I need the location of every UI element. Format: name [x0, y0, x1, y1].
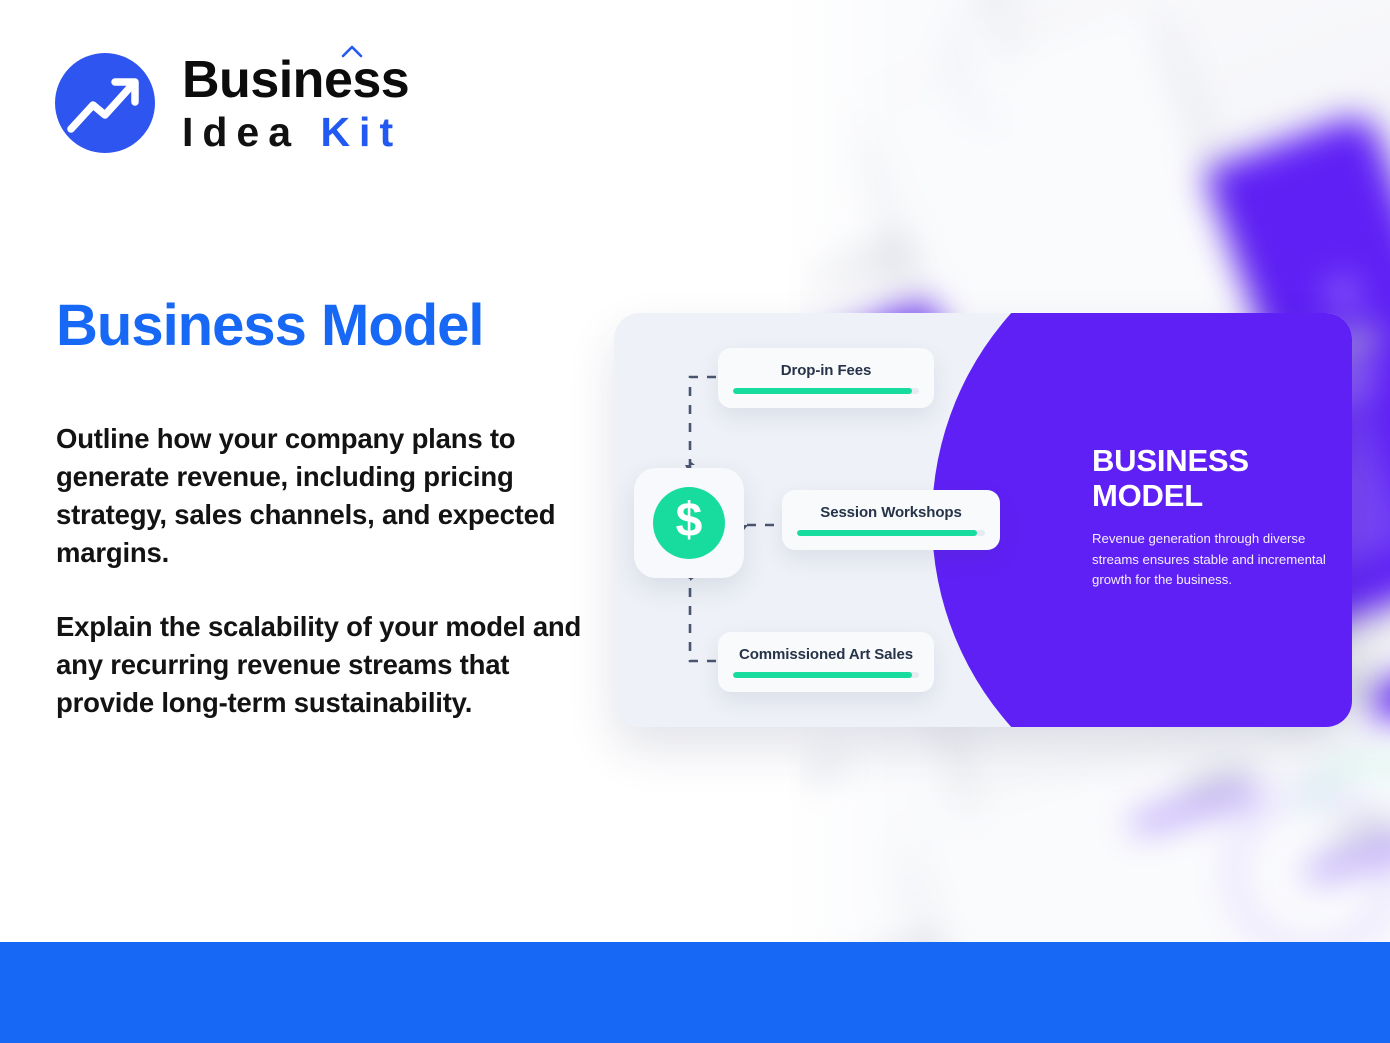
deck-dot-1: [1330, 280, 1356, 306]
revenue-stream-label: Commissioned Art Sales: [739, 646, 913, 663]
deck-dot-2: [1350, 420, 1368, 438]
brand-wordmark: Business Idea Kit: [182, 54, 409, 153]
purple-panel-subtitle: Revenue generation through diverse strea…: [1092, 529, 1342, 589]
progress-fill: [733, 672, 912, 678]
progress-track: [733, 388, 919, 394]
revenue-stream-label: Drop-in Fees: [781, 362, 871, 379]
progress-track: [733, 672, 919, 678]
purple-panel-title: BUSINESS MODEL: [1092, 444, 1342, 513]
slide-root: Business Idea Kit Business Model Outline…: [0, 0, 1390, 1043]
revenue-stream-label: Session Workshops: [820, 504, 961, 521]
page-title: Business Model: [56, 296, 484, 357]
footer-band: [0, 942, 1390, 1043]
central-revenue-node[interactable]: $: [634, 468, 744, 578]
revenue-stream-item[interactable]: Session Workshops: [782, 490, 1000, 550]
progress-track: [797, 530, 985, 536]
body-paragraph-1: Outline how your company plans to genera…: [56, 420, 586, 572]
brand-name-line1: Business: [182, 54, 409, 106]
growth-arrow-icon: [55, 53, 155, 153]
dollar-sign-icon: $: [653, 487, 725, 559]
brand-logo: Business Idea Kit: [55, 53, 409, 153]
body-paragraph-2: Explain the scalability of your model an…: [56, 608, 586, 722]
revenue-stream-item[interactable]: Drop-in Fees: [718, 348, 934, 408]
circumflex-accent-icon: [341, 45, 363, 58]
progress-fill: [797, 530, 977, 536]
brand-name-line2: Idea Kit: [182, 112, 409, 153]
revenue-stream-item[interactable]: Commissioned Art Sales: [718, 632, 934, 692]
purple-panel-content: BUSINESS MODEL Revenue generation throug…: [1092, 444, 1342, 590]
progress-fill: [733, 388, 912, 394]
